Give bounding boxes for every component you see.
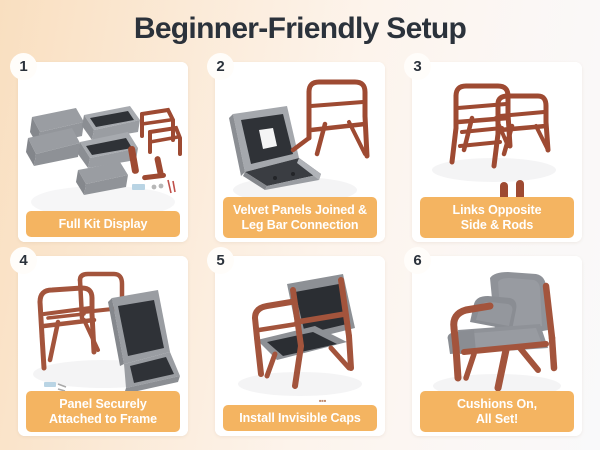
steps-grid: 1 Full Kit Display	[18, 62, 582, 436]
step-card-3[interactable]: 3 Links Opposite Side & Rods	[412, 62, 582, 242]
step-number-badge-2: 2	[207, 53, 234, 80]
step-number-badge-6: 6	[404, 247, 431, 274]
step-caption-2: Velvet Panels Joined & Leg Bar Connectio…	[223, 197, 377, 238]
step-card-2[interactable]: 2 Velvet Panels Joined & Leg Bar Connect…	[215, 62, 385, 242]
step-caption-3-line-2: Side & Rods	[461, 218, 534, 232]
step-caption-3-line-1: Links Opposite	[453, 203, 542, 217]
step-number-badge-3: 3	[404, 53, 431, 80]
step-caption-4-line-1: Panel Securely	[59, 397, 147, 411]
step-card-4[interactable]: 4 Panel Securely Attached to Frame	[18, 256, 188, 436]
step-card-1[interactable]: 1 Full Kit Display	[18, 62, 188, 242]
step-caption-1: Full Kit Display	[26, 211, 180, 238]
step-number-badge-1: 1	[10, 53, 37, 80]
step-caption-6: Cushions On, All Set!	[420, 391, 574, 432]
step-caption-4-line-2: Attached to Frame	[49, 412, 157, 426]
step-number-badge-5: 5	[207, 247, 234, 274]
step-card-6[interactable]: 6 Cushions On, All Set!	[412, 256, 582, 436]
title-bar: Beginner-Friendly Setup	[0, 0, 600, 58]
step-caption-3: Links Opposite Side & Rods	[420, 197, 574, 238]
step-caption-4: Panel Securely Attached to Frame	[26, 391, 180, 432]
svg-text:■■■: ■■■	[319, 398, 327, 403]
step-caption-5: Install Invisible Caps	[223, 405, 377, 432]
step-caption-6-line-1: Cushions On,	[457, 397, 537, 411]
step-caption-2-line-1: Velvet Panels Joined &	[233, 203, 367, 217]
page-title: Beginner-Friendly Setup	[134, 14, 466, 44]
infographic-root: Beginner-Friendly Setup	[0, 0, 600, 450]
step-caption-2-line-2: Leg Bar Connection	[242, 218, 359, 232]
step-number-badge-4: 4	[10, 247, 37, 274]
step-caption-6-line-2: All Set!	[476, 412, 518, 426]
step-card-5[interactable]: ■■■ 5 Install Invisible Caps	[215, 256, 385, 436]
